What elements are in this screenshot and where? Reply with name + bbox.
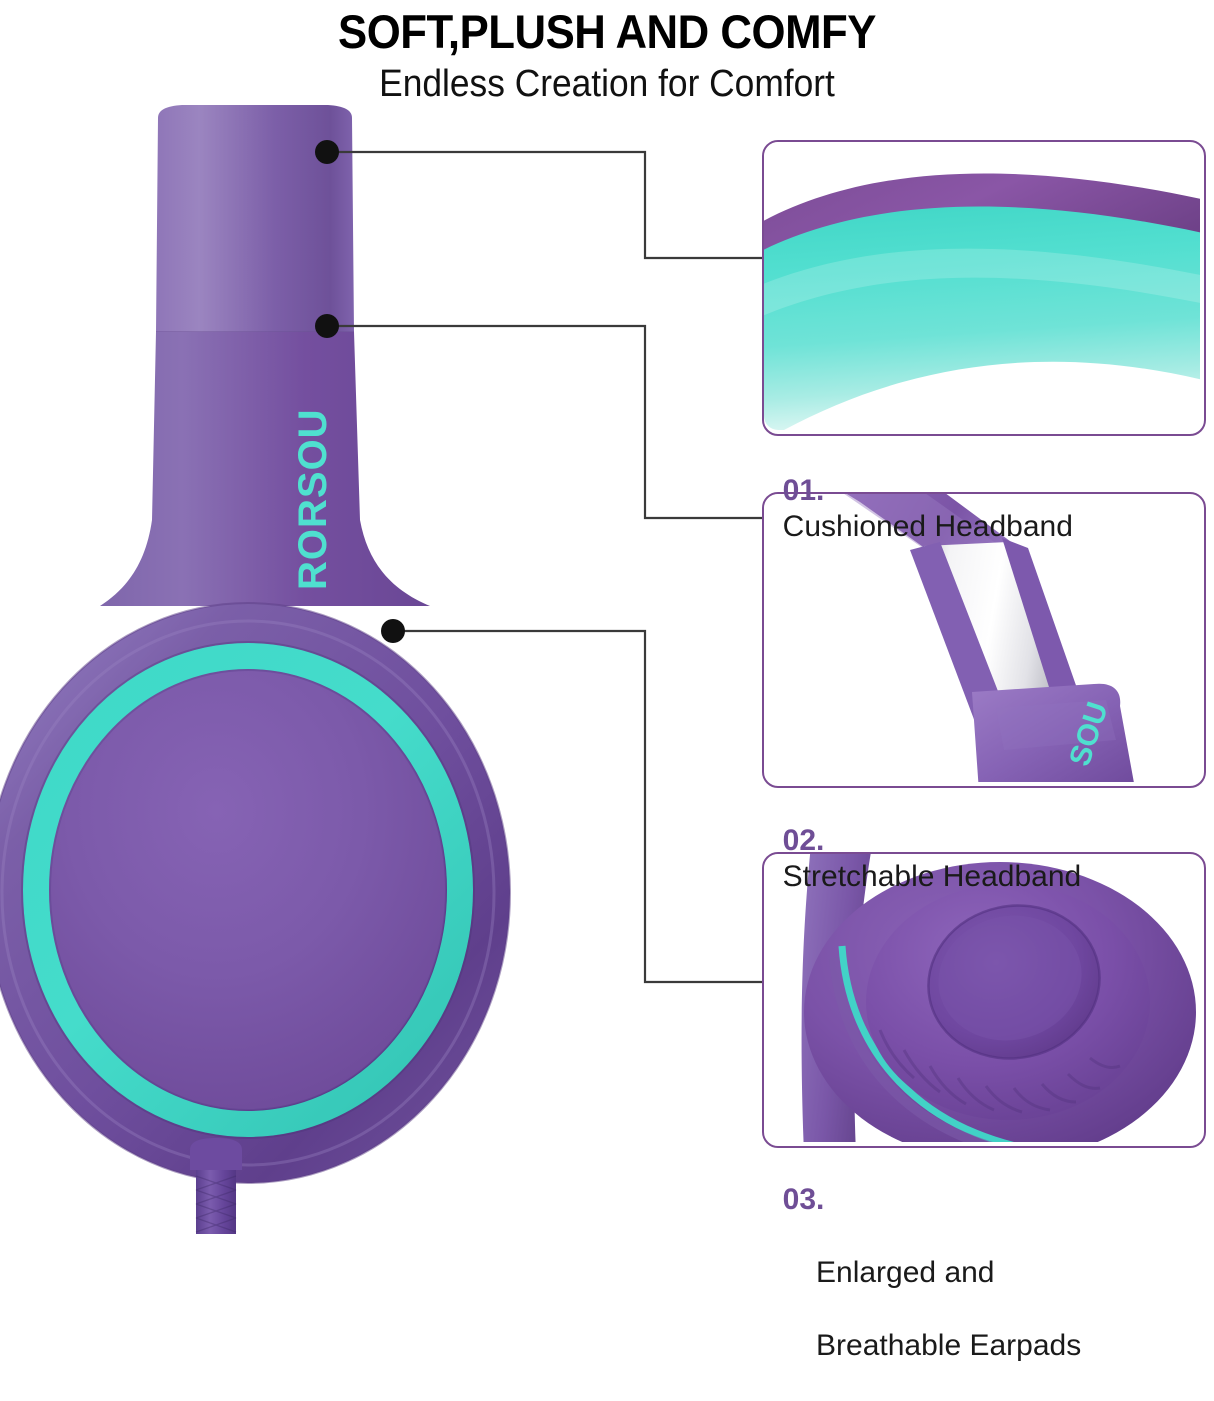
product-headphones-image: RORSOU <box>0 90 540 1234</box>
feature-label-2: Stretchable Headband <box>783 860 1082 893</box>
feature-label-3-line2: Breathable Earpads <box>816 1329 1081 1362</box>
page-title: SOFT,PLUSH AND COMFY <box>42 8 1171 55</box>
feature-number-1: 01. <box>783 474 825 507</box>
feature-label-3-line1: Enlarged and <box>816 1256 994 1289</box>
feature-number-2: 02. <box>783 824 825 857</box>
feature-number-3: 03. <box>783 1183 825 1216</box>
feature-caption-1: 01. Cushioned Headband <box>766 436 1073 546</box>
feature-label-1: Cushioned Headband <box>783 510 1073 543</box>
feature-caption-3: 03. Enlarged and Breathable Earpads <box>766 1145 1081 1401</box>
feature-panel-3 <box>762 852 1206 1148</box>
brand-logo-text: RORSOU <box>291 408 335 590</box>
feature-caption-2: 02. Stretchable Headband <box>766 786 1081 896</box>
feature-panel-1 <box>762 140 1206 436</box>
